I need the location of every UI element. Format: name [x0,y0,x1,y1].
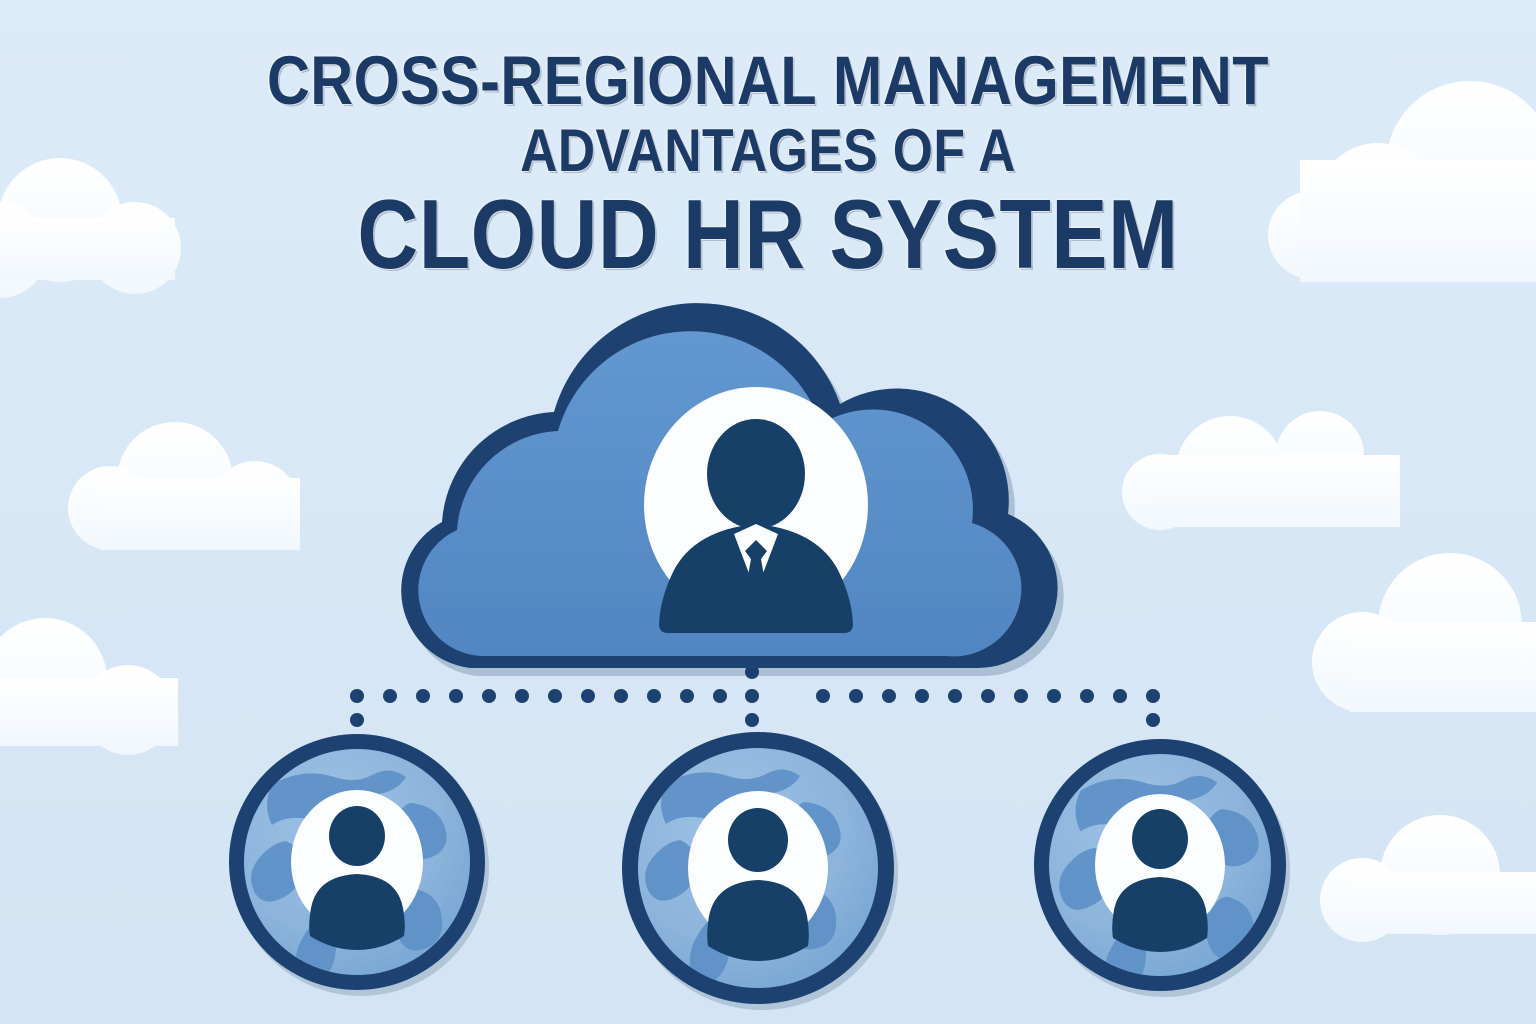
connector-bus-left [350,689,727,703]
connector-drop-right [1146,713,1160,727]
headline-block: CROSS-REGIONAL MANAGEMENT ADVANTAGES OF … [0,46,1536,283]
headline-line-1: CROSS-REGIONAL MANAGEMENT [108,46,1429,115]
headline-line-2: ADVANTAGES OF A [108,121,1429,181]
region-node-left[interactable] [229,734,489,996]
infographic-canvas: CROSS-REGIONAL MANAGEMENT ADVANTAGES OF … [0,0,1536,1024]
region-node-right[interactable] [1034,739,1290,997]
connector-drop-left [350,713,364,727]
cloud-hr-system-node[interactable] [401,303,1063,676]
headline-line-3: CLOUD HR SYSTEM [108,185,1429,283]
connector-bus-right [816,689,1160,703]
region-node-center[interactable] [622,732,898,1010]
